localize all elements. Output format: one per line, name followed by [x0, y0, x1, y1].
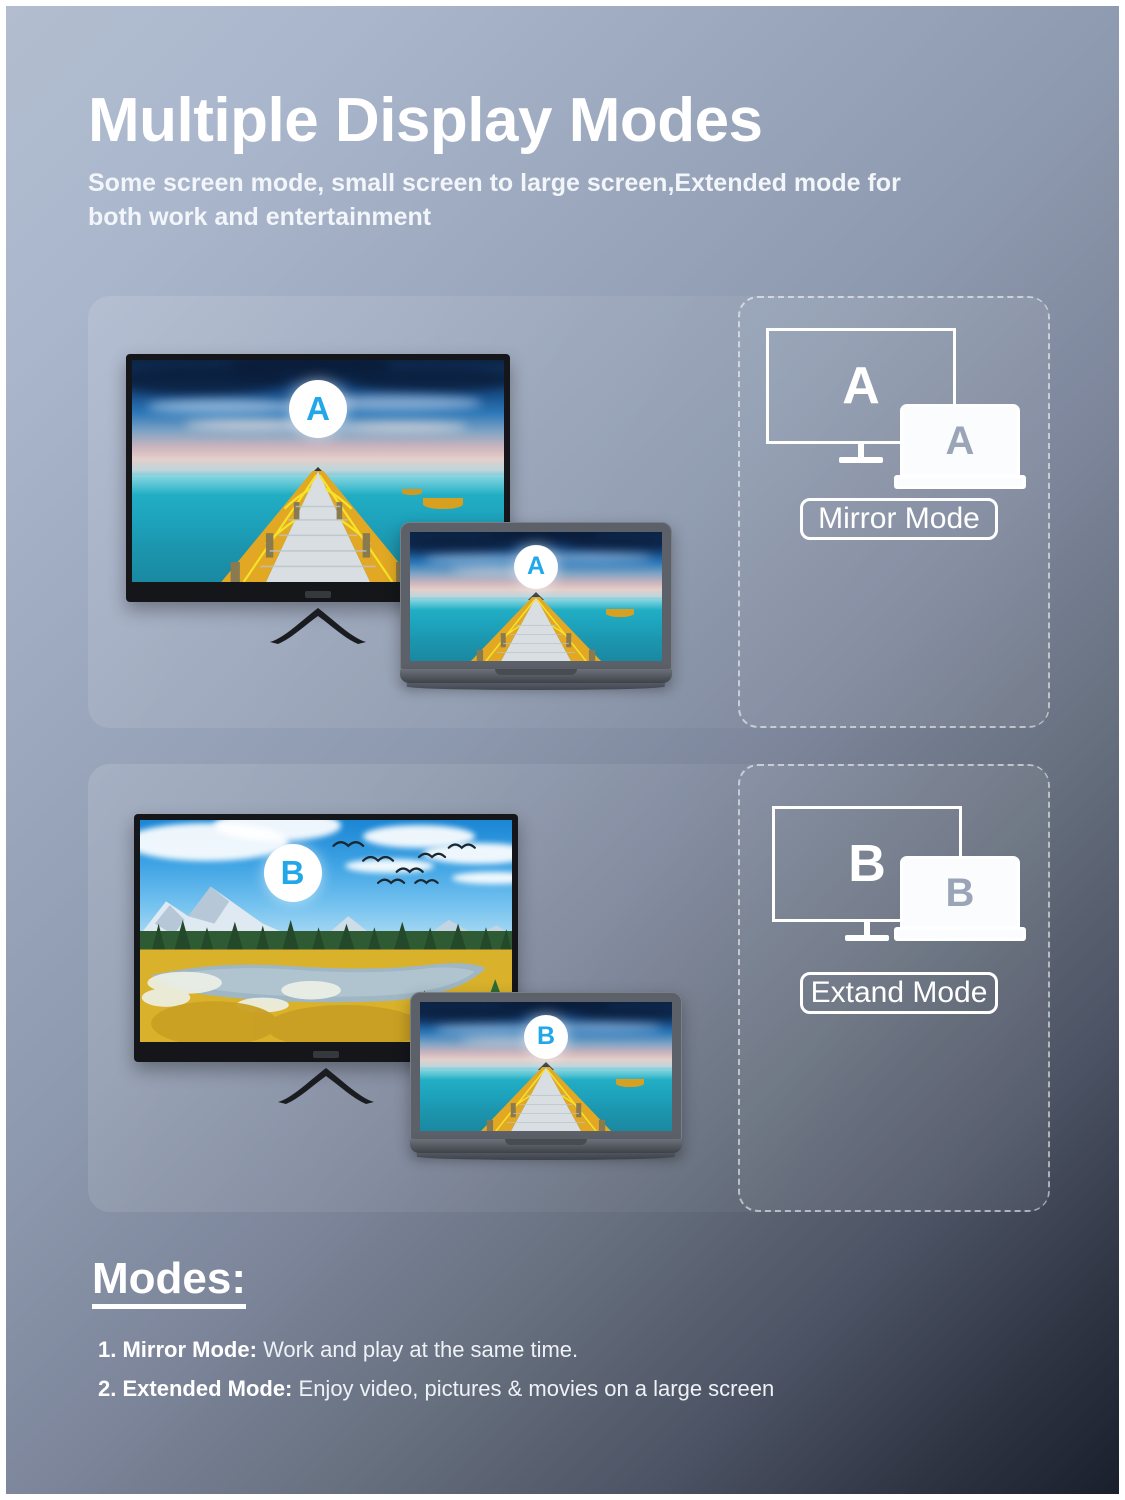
diagram-label-mirror: Mirror Mode	[800, 498, 998, 540]
tv-brand-logo	[305, 591, 331, 598]
diagram-laptop-mirror: A	[894, 404, 1026, 490]
header: Multiple Display Modes Some screen mode,…	[88, 90, 1048, 234]
modes-item-term: Mirror Mode:	[122, 1337, 256, 1362]
laptop-badge-extend: B	[524, 1015, 568, 1059]
mirror-mode-card: A	[88, 296, 1050, 728]
modes-item-number: 2.	[98, 1376, 116, 1401]
tv-brand-logo	[313, 1051, 339, 1058]
laptop-device-extend: B	[410, 992, 682, 1153]
extend-photo-zone: B	[88, 764, 738, 1212]
extend-mode-card: B	[88, 764, 1050, 1212]
modes-list-item: 1. Mirror Mode: Work and play at the sam…	[98, 1331, 1052, 1370]
tv-badge-extend: B	[264, 844, 322, 902]
tv-badge-mirror: A	[289, 380, 347, 438]
promo-page: Multiple Display Modes Some screen mode,…	[0, 0, 1125, 1500]
modes-item-desc: Work and play at the same time.	[263, 1337, 578, 1362]
diagram-monitor-foot-extend	[845, 935, 889, 941]
modes-item-number: 1.	[98, 1337, 116, 1362]
mirror-diagram-zone: A A Mirror Mode	[738, 296, 1050, 728]
laptop-base-extend	[410, 1139, 682, 1153]
diagram-monitor-foot-mirror	[839, 457, 883, 463]
extend-diagram-zone: B B Extand Mode	[738, 764, 1050, 1212]
diagram-laptop-extend: B	[894, 856, 1026, 942]
modes-item-desc: Enjoy video, pictures & movies on a larg…	[299, 1376, 775, 1401]
page-title: Multiple Display Modes	[88, 90, 1048, 152]
diagram-label-extend: Extand Mode	[800, 972, 998, 1014]
page-subtitle: Some screen mode, small screen to large …	[88, 166, 928, 234]
modes-item-term: Extended Mode:	[122, 1376, 292, 1401]
laptop-badge-mirror: A	[514, 545, 558, 589]
modes-section: Modes: 1. Mirror Mode: Work and play at …	[92, 1256, 1052, 1408]
modes-heading: Modes:	[92, 1256, 246, 1309]
laptop-device-mirror: A	[400, 522, 672, 683]
mirror-photo-zone: A	[88, 296, 738, 728]
modes-list: 1. Mirror Mode: Work and play at the sam…	[98, 1331, 1052, 1408]
laptop-base-mirror	[400, 669, 672, 683]
modes-list-item: 2. Extended Mode: Enjoy video, pictures …	[98, 1370, 1052, 1409]
tv-stand-mirror	[262, 600, 374, 644]
tv-stand-extend	[270, 1060, 382, 1104]
